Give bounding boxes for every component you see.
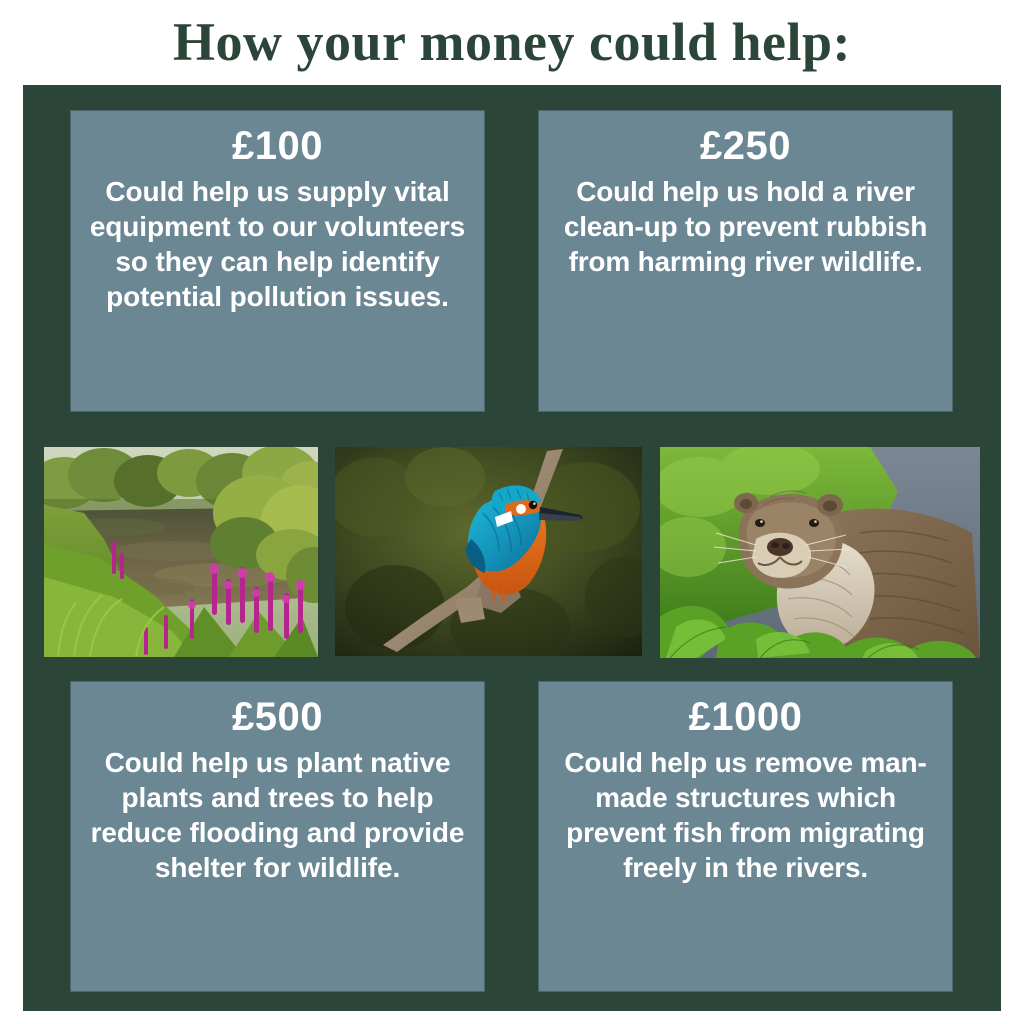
donation-card-500[interactable]: £500 Could help us plant native plants a… xyxy=(70,681,485,992)
donation-card-1000[interactable]: £1000 Could help us remove man-made stru… xyxy=(538,681,953,992)
donation-amount: £100 xyxy=(84,118,471,174)
donation-description: Could help us plant native plants and tr… xyxy=(84,745,471,885)
donation-amount: £250 xyxy=(552,118,939,174)
donation-card-100[interactable]: £100 Could help us supply vital equipmen… xyxy=(70,110,485,412)
donation-description: Could help us supply vital equipment to … xyxy=(84,174,471,314)
page-title: How your money could help: xyxy=(0,6,1024,78)
poster: How your money could help: £100 Could he… xyxy=(0,0,1024,1024)
donation-card-250[interactable]: £250 Could help us hold a river clean-up… xyxy=(538,110,953,412)
donation-description: Could help us hold a river clean-up to p… xyxy=(552,174,939,279)
otter-photo xyxy=(660,447,980,658)
donation-description: Could help us remove man-made structures… xyxy=(552,745,939,885)
donation-amount: £500 xyxy=(84,689,471,745)
donation-amount: £1000 xyxy=(552,689,939,745)
kingfisher-photo xyxy=(335,447,642,656)
river-photo xyxy=(44,447,318,657)
